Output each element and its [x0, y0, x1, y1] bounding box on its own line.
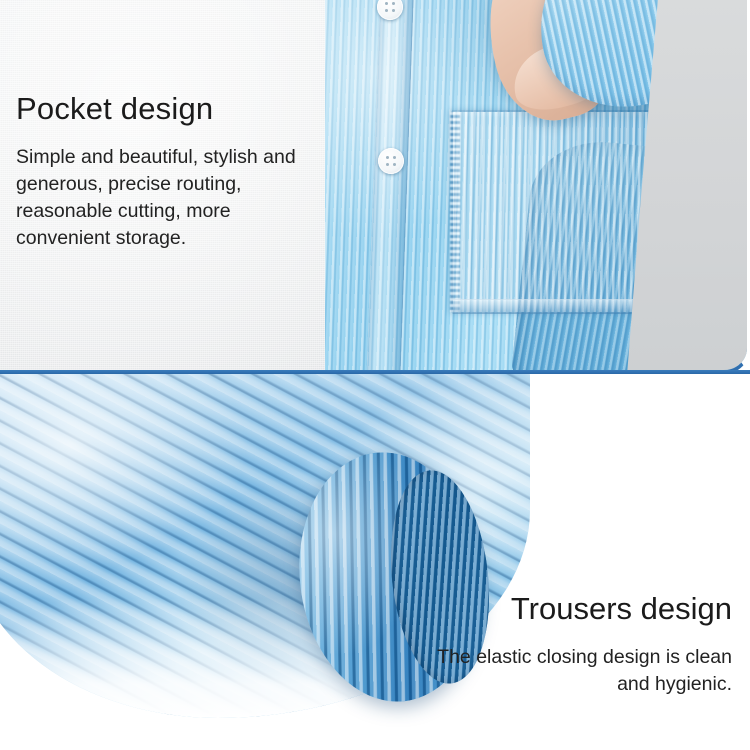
- pocket-seam: [450, 112, 460, 312]
- pocket-design-body: Simple and beautiful, stylish and genero…: [16, 144, 326, 252]
- shirt-button-icon: [378, 148, 404, 174]
- pocket-hem: [453, 299, 649, 314]
- product-feature-image: Pocket design Simple and beautiful, styl…: [0, 0, 750, 750]
- caption-trousers-design: Trousers design The elastic closing desi…: [402, 590, 732, 698]
- caption-pocket-design: Pocket design Simple and beautiful, styl…: [16, 90, 326, 252]
- pocket-design-title: Pocket design: [16, 90, 326, 128]
- pocket-stripe-pattern: [453, 112, 649, 312]
- shirt-photo: [325, 0, 750, 374]
- panel-trousers-design: Trousers design The elastic closing desi…: [0, 374, 750, 750]
- trousers-design-title: Trousers design: [402, 590, 732, 628]
- chest-patch-pocket: [451, 110, 651, 314]
- trousers-design-body: The elastic closing design is clean and …: [402, 644, 732, 698]
- panel-pocket-design: Pocket design Simple and beautiful, styl…: [0, 0, 750, 374]
